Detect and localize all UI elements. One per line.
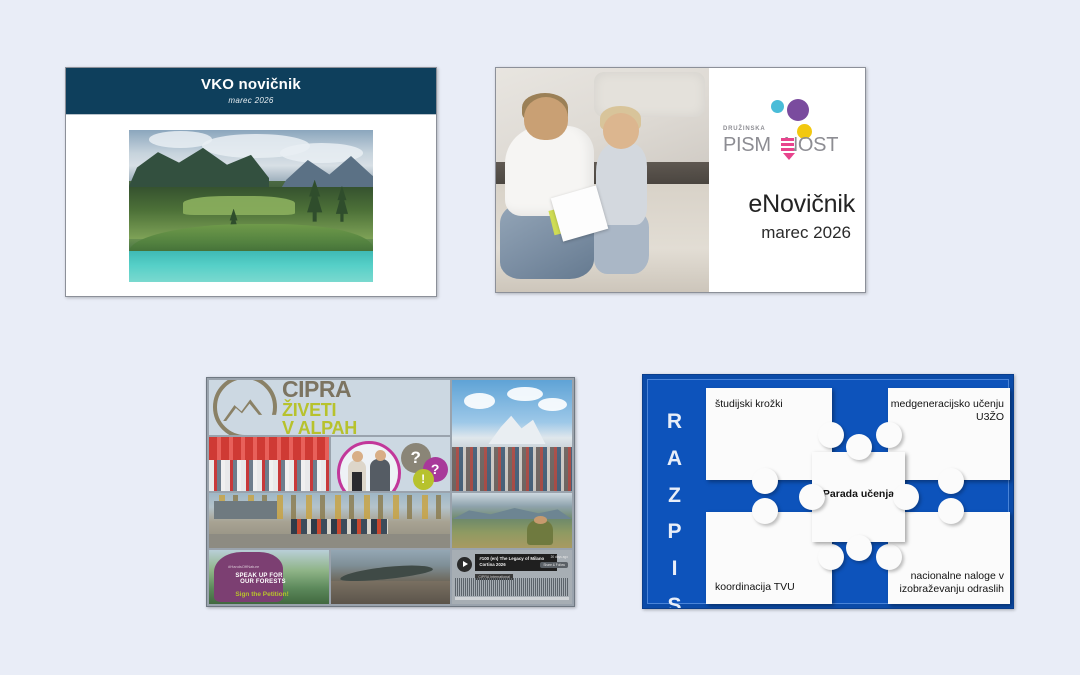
person-one-head <box>352 451 363 462</box>
speech-bubble-exclaim-olive: ! <box>413 469 434 490</box>
puzzle-knob <box>876 422 902 448</box>
person-two-body <box>370 459 390 492</box>
puzzle-label: Parada učenja <box>812 488 905 501</box>
razpis-vertical-label: R A Z P I S <box>660 404 690 609</box>
razpis-inner-frame: R A Z P I S študijski krožki medgeneraci… <box>647 379 1009 604</box>
cipra-line-1: CIPRA <box>282 380 357 401</box>
mother-toddler-photo <box>496 68 709 292</box>
puzzle-knob <box>799 484 825 510</box>
druzinska-pismenost-logo: DRUŽINSKA PISMENOST <box>723 98 853 156</box>
puzzle-piece-medgeneracijsko-ucenje[interactable]: medgeneracijsko učenju U3ŽO <box>888 388 1010 480</box>
vko-body <box>66 115 436 296</box>
vko-title: VKO novičnik <box>201 77 301 94</box>
person-one-dress <box>352 472 362 492</box>
puzzle-knob <box>818 544 844 570</box>
puzzle-label: študijski krožki <box>715 398 783 411</box>
razpis-letter: Z <box>660 478 690 515</box>
audio-share-button[interactable]: Share & Follow <box>540 562 568 568</box>
razpis-letter: R <box>660 404 690 441</box>
seated-hiker <box>527 520 553 545</box>
audio-player-tile[interactable]: #100 (en) The Legacy of Milano Cortina 2… <box>452 550 572 605</box>
vko-header: VKO novičnik marec 2026 <box>66 68 436 115</box>
progress-track[interactable] <box>455 597 569 600</box>
cipra-logo-tile: CIPRA ŽIVETI V ALPAH <box>209 380 450 435</box>
cloud-icon <box>149 131 212 148</box>
puzzle-knob <box>893 484 919 510</box>
puzzle-knob <box>876 544 902 570</box>
petition-cta-link[interactable]: Sign the Petition! <box>235 591 288 598</box>
site-visit-photo-tile <box>209 493 450 548</box>
dot-cyan-icon <box>771 100 784 113</box>
construction-site-photo-tile <box>331 550 451 605</box>
petition-hashtag: #HandsOffNature <box>228 564 259 569</box>
cipra-line-2: ŽIVETI <box>282 401 357 419</box>
puzzle-label: medgeneracijsko učenju U3ŽO <box>888 398 1004 424</box>
crowd-of-people <box>452 447 572 491</box>
cipra-wordmark: CIPRA ŽIVETI V ALPAH <box>282 380 357 435</box>
audio-age: 20 days ago <box>551 555 568 559</box>
vko-subtitle: marec 2026 <box>228 96 273 105</box>
card-druzinska-pismenost[interactable]: DRUŽINSKA PISMENOST eNovičnik marec 2026 <box>495 67 866 293</box>
red-banners <box>209 437 329 462</box>
card-vko-newsletter[interactable]: VKO novičnik marec 2026 <box>65 67 437 297</box>
toddler-head <box>603 113 639 149</box>
waveform[interactable] <box>455 578 569 596</box>
cloud-icon <box>507 387 543 401</box>
cloud-icon <box>464 393 495 409</box>
cipra-line-3: V ALPAH <box>282 419 357 435</box>
two-people-bubbles-tile: ? ? ! <box>331 437 451 492</box>
razpis-letter: A <box>660 441 690 478</box>
puzzle-knob <box>846 434 872 460</box>
alps-crowd-photo-tile <box>452 380 572 491</box>
cipra-mountain-logo-icon <box>213 380 277 435</box>
dot-purple-icon <box>787 99 809 121</box>
turquoise-water <box>129 251 373 281</box>
logo-main-head: PISM <box>723 134 771 156</box>
puzzle-knob <box>846 535 872 561</box>
petition-line-2: OUR FORESTS <box>240 579 286 585</box>
card-cipra-collage[interactable]: CIPRA ŽIVETI V ALPAH ? ? ! <box>206 377 575 607</box>
equals-bar-icon <box>781 138 794 151</box>
hiker-viewpoint-photo-tile <box>452 493 572 548</box>
puzzle-piece-nacionalne-naloge[interactable]: nacionalne naloge v izobraževanju odrasl… <box>888 512 1010 604</box>
dp-text-panel: DRUŽINSKA PISMENOST eNovičnik marec 2026 <box>709 68 865 292</box>
puzzle-knob <box>938 498 964 524</box>
person-two-head <box>375 450 386 461</box>
play-button[interactable] <box>457 557 472 572</box>
puzzle-knob <box>938 468 964 494</box>
mother-head <box>524 97 569 140</box>
card-razpis-puzzle[interactable]: R A Z P I S študijski krožki medgeneraci… <box>642 374 1014 609</box>
puzzle-knob <box>818 422 844 448</box>
matterhorn-peak <box>488 411 545 444</box>
razpis-letter: S <box>660 588 690 609</box>
triangle-icon <box>783 153 795 160</box>
portrait-circle <box>337 441 401 492</box>
hiker-head <box>534 516 547 524</box>
forest-petition-tile[interactable]: #HandsOffNature SPEAK UP FOR OUR FORESTS… <box>209 550 329 605</box>
cloud-icon <box>538 398 567 411</box>
puzzle-piece-parada-ucenja[interactable]: Parada učenja <box>812 452 905 542</box>
razpis-letter: I <box>660 551 690 588</box>
logo-sub-text: DRUŽINSKA <box>723 126 766 132</box>
mountain-ridge <box>452 503 572 519</box>
enovicnik-date: marec 2026 <box>709 223 851 243</box>
enovicnik-title: eNovičnik <box>709 190 855 219</box>
peak-shape <box>223 395 267 421</box>
meadow <box>183 196 295 214</box>
excavated-ground <box>331 581 451 604</box>
people-row <box>209 460 329 491</box>
paved-area <box>209 534 450 547</box>
red-crowd-photo-tile <box>209 437 329 492</box>
puzzle-label: nacionalne naloge v izobraževanju odrasl… <box>888 570 1004 596</box>
puzzle-knob <box>752 468 778 494</box>
alpine-lake-photo <box>129 130 373 282</box>
play-icon <box>463 561 468 567</box>
puzzle-label: koordinacija TVU <box>715 581 795 594</box>
puzzle-knob <box>752 498 778 524</box>
razpis-letter: P <box>660 514 690 551</box>
building <box>214 501 277 520</box>
